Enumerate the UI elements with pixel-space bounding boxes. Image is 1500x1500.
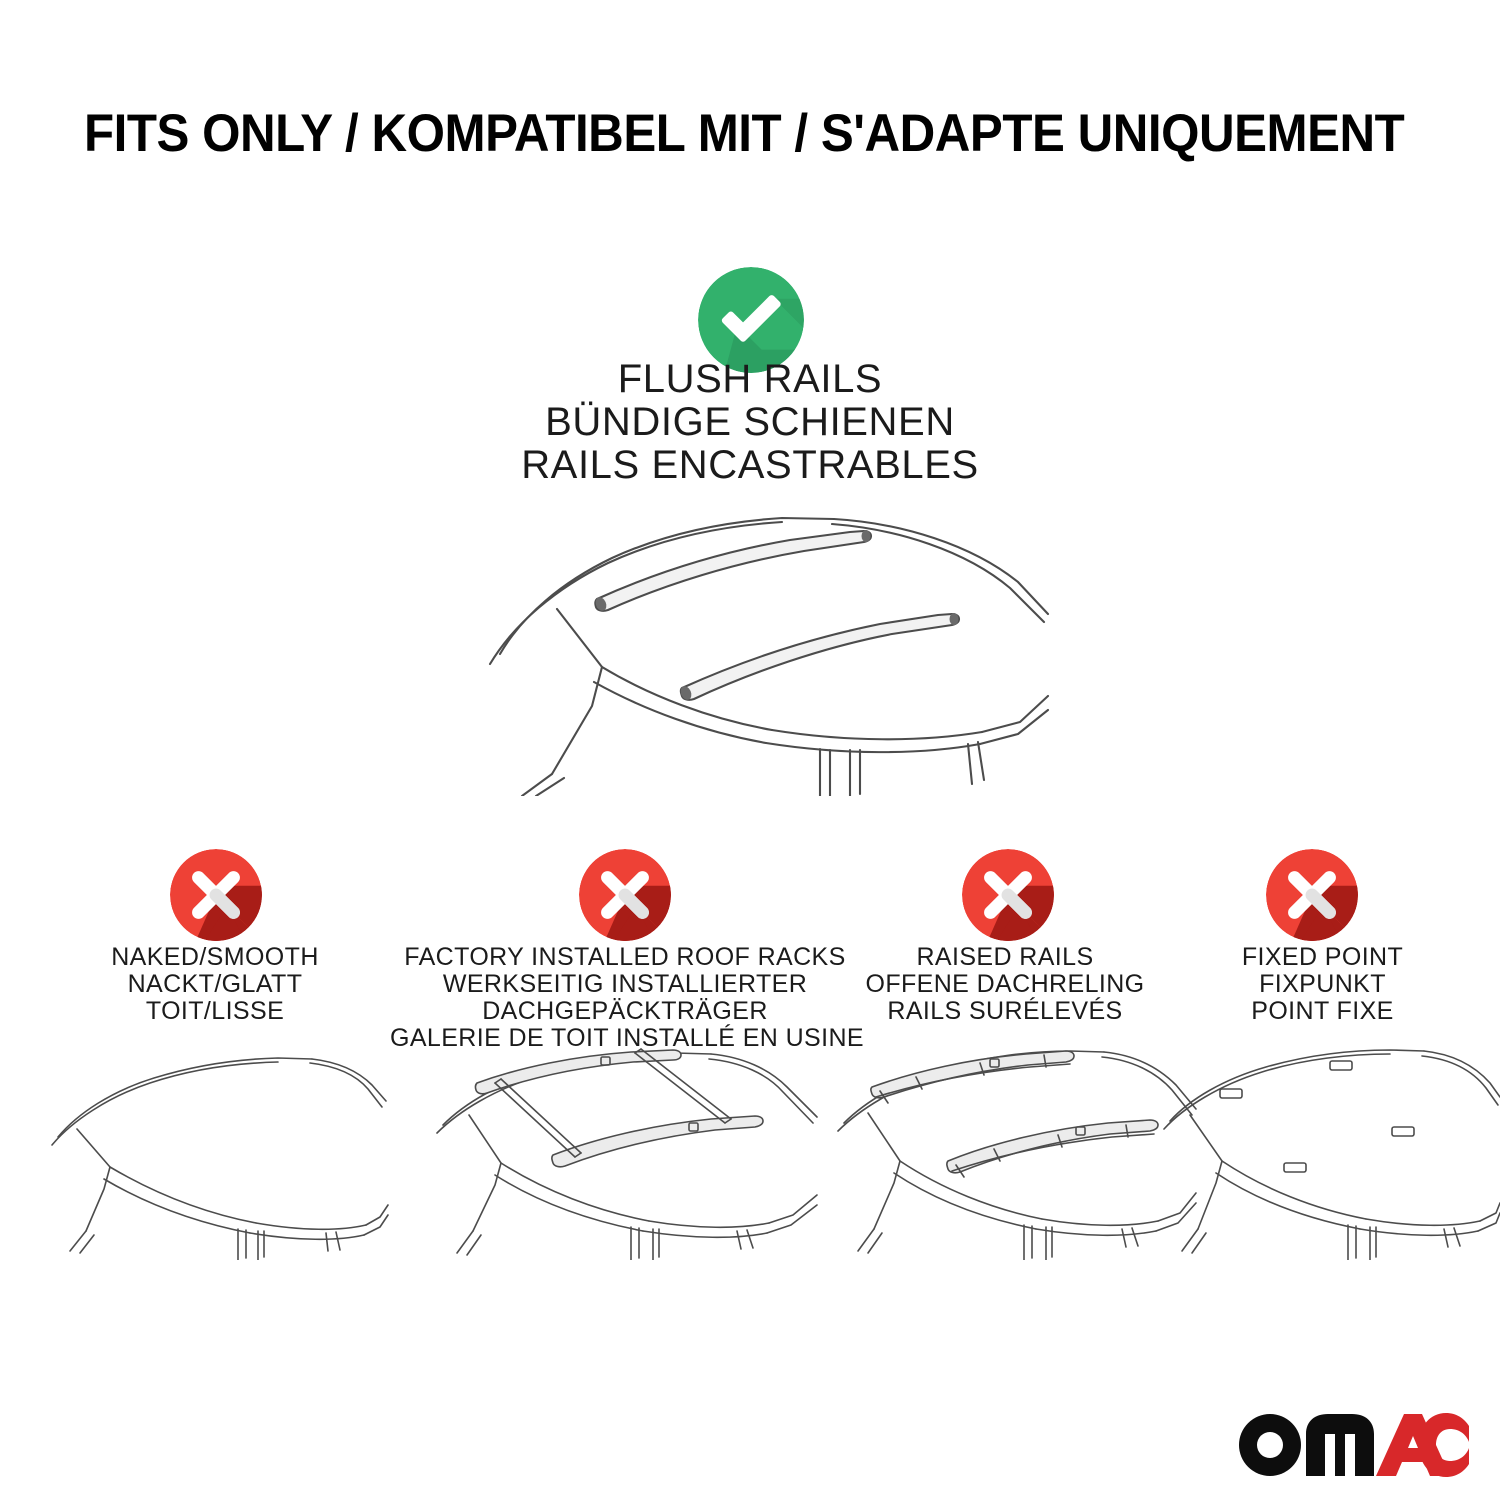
label-line: FIXPUNKT <box>1145 971 1500 998</box>
incompatible-label-naked-smooth: NAKED/SMOOTH NACKT/GLATT TOIT/LISSE <box>0 944 430 1025</box>
label-line: OFFENE DACHRELING <box>820 971 1190 998</box>
car-roof-raised-rails-illustration <box>830 1045 1200 1260</box>
compatible-label-fr: RAILS ENCASTRABLES <box>0 444 1500 487</box>
incompatible-label-fixed-point: FIXED POINT FIXPUNKT POINT FIXE <box>1145 944 1500 1025</box>
omac-logo <box>1238 1412 1470 1478</box>
car-roof-fixed-point-illustration <box>1160 1045 1500 1260</box>
incompatible-label-raised-rails: RAISED RAILS OFFENE DACHRELING RAILS SUR… <box>820 944 1190 1025</box>
label-line: NAKED/SMOOTH <box>0 944 430 971</box>
label-line: WERKSEITIG INSTALLIERTER <box>390 971 860 998</box>
label-line: RAILS SURÉLEVÉS <box>820 998 1190 1025</box>
compatible-label-en: FLUSH RAILS <box>0 358 1500 401</box>
incompatible-label-factory-roof-racks: FACTORY INSTALLED ROOF RACKS WERKSEITIG … <box>390 944 860 1052</box>
label-line: NACKT/GLATT <box>0 971 430 998</box>
label-line: RAISED RAILS <box>820 944 1190 971</box>
compatible-label-de: BÜNDIGE SCHIENEN <box>0 401 1500 444</box>
label-line: DACHGEPÄCKTRÄGER <box>390 998 860 1025</box>
label-line: FIXED POINT <box>1145 944 1500 971</box>
cross-circle-icon <box>170 849 262 941</box>
car-roof-naked-illustration <box>50 1045 390 1260</box>
label-line: TOIT/LISSE <box>0 998 430 1025</box>
cross-circle-icon <box>962 849 1054 941</box>
compatible-label-group: FLUSH RAILS BÜNDIGE SCHIENEN RAILS ENCAS… <box>0 358 1500 487</box>
label-line: POINT FIXE <box>1145 998 1500 1025</box>
cross-circle-icon <box>1266 849 1358 941</box>
car-roof-flush-rails-illustration <box>452 496 1052 796</box>
label-line: FACTORY INSTALLED ROOF RACKS <box>390 944 860 971</box>
cross-circle-icon <box>579 849 671 941</box>
car-roof-factory-racks-illustration <box>425 1045 825 1260</box>
page-title: FITS ONLY / KOMPATIBEL MIT / S'ADAPTE UN… <box>84 106 1330 162</box>
